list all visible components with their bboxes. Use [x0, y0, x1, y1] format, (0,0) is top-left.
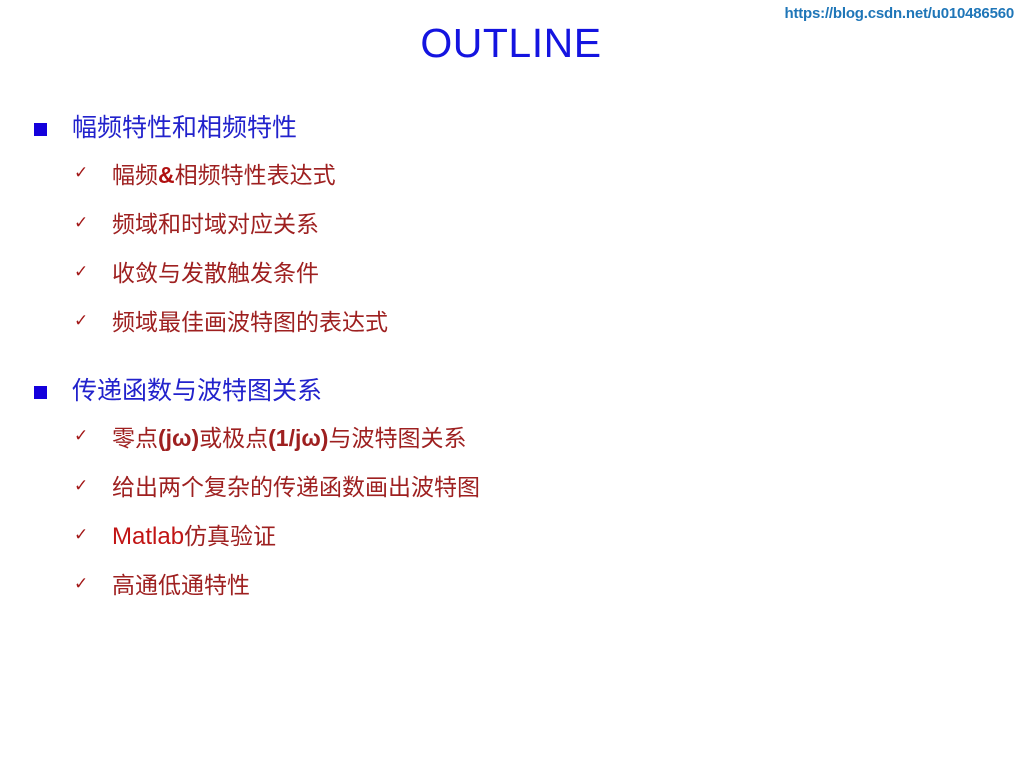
outline-level2-label: 收敛与发散触发条件: [112, 261, 319, 287]
square-bullet-icon: [34, 123, 47, 136]
inline-text: 收敛与发散触发条件: [112, 261, 319, 287]
inline-emphasis: (jω): [158, 425, 199, 451]
outline-list: 幅频特性和相频特性✓幅频&相频特性表达式✓频域和时域对应关系✓收敛与发散触发条件…: [0, 108, 1022, 618]
slide-canvas: https://blog.csdn.net/u010486560 OUTLINE…: [0, 0, 1022, 767]
section-spacer: [0, 355, 1022, 371]
outline-level2-item: ✓零点(jω)或极点(1/jω)与波特图关系: [0, 421, 1022, 456]
outline-level2-label: 零点(jω)或极点(1/jω)与波特图关系: [112, 426, 466, 452]
inline-text: 相频特性表达式: [175, 163, 336, 189]
inline-text: 零点: [112, 426, 158, 452]
check-bullet-icon: ✓: [74, 312, 92, 330]
outline-level2-label: 高通低通特性: [112, 573, 250, 599]
page-title: OUTLINE: [0, 22, 1022, 65]
inline-text: 与波特图关系: [328, 426, 466, 452]
inline-text: 仿真验证: [184, 524, 276, 550]
outline-level2-item: ✓给出两个复杂的传递函数画出波特图: [0, 471, 1022, 505]
check-bullet-icon: ✓: [74, 214, 92, 232]
inline-text: 频域和时域对应关系: [112, 212, 319, 238]
check-bullet-icon: ✓: [74, 526, 92, 544]
outline-level2-item: ✓频域和时域对应关系: [0, 208, 1022, 242]
outline-level1-label: 传递函数与波特图关系: [72, 376, 322, 405]
outline-level1-item: 幅频特性和相频特性: [0, 108, 1022, 148]
check-bullet-icon: ✓: [74, 164, 92, 182]
check-bullet-icon: ✓: [74, 477, 92, 495]
outline-level2-label: 给出两个复杂的传递函数画出波特图: [112, 475, 480, 501]
outline-level2-item: ✓高通低通特性: [0, 569, 1022, 603]
outline-level2-label: 频域和时域对应关系: [112, 212, 319, 238]
outline-level2-item: ✓频域最佳画波特图的表达式: [0, 306, 1022, 340]
outline-level2-item: ✓收敛与发散触发条件: [0, 257, 1022, 291]
inline-text: 给出两个复杂的传递函数画出波特图: [112, 475, 480, 501]
outline-level2-label: 频域最佳画波特图的表达式: [112, 310, 388, 336]
outline-level2-label: Matlab仿真验证: [112, 524, 276, 550]
inline-text: 频域最佳画波特图的表达式: [112, 310, 388, 336]
inline-emphasis: &: [158, 162, 175, 188]
outline-level2-item: ✓幅频&相频特性表达式: [0, 158, 1022, 193]
inline-product-name: Matlab: [112, 523, 184, 550]
watermark-url: https://blog.csdn.net/u010486560: [785, 5, 1015, 22]
check-bullet-icon: ✓: [74, 575, 92, 593]
outline-level1-item: 传递函数与波特图关系: [0, 371, 1022, 411]
outline-level2-label: 幅频&相频特性表达式: [112, 163, 336, 189]
inline-text: 或极点: [199, 426, 268, 452]
outline-level2-item: ✓Matlab仿真验证: [0, 520, 1022, 554]
check-bullet-icon: ✓: [74, 263, 92, 281]
check-bullet-icon: ✓: [74, 427, 92, 445]
inline-emphasis: (1/jω): [268, 425, 328, 451]
square-bullet-icon: [34, 386, 47, 399]
outline-level1-label: 幅频特性和相频特性: [72, 113, 297, 142]
inline-text: 高通低通特性: [112, 573, 250, 599]
inline-text: 幅频: [112, 163, 158, 189]
